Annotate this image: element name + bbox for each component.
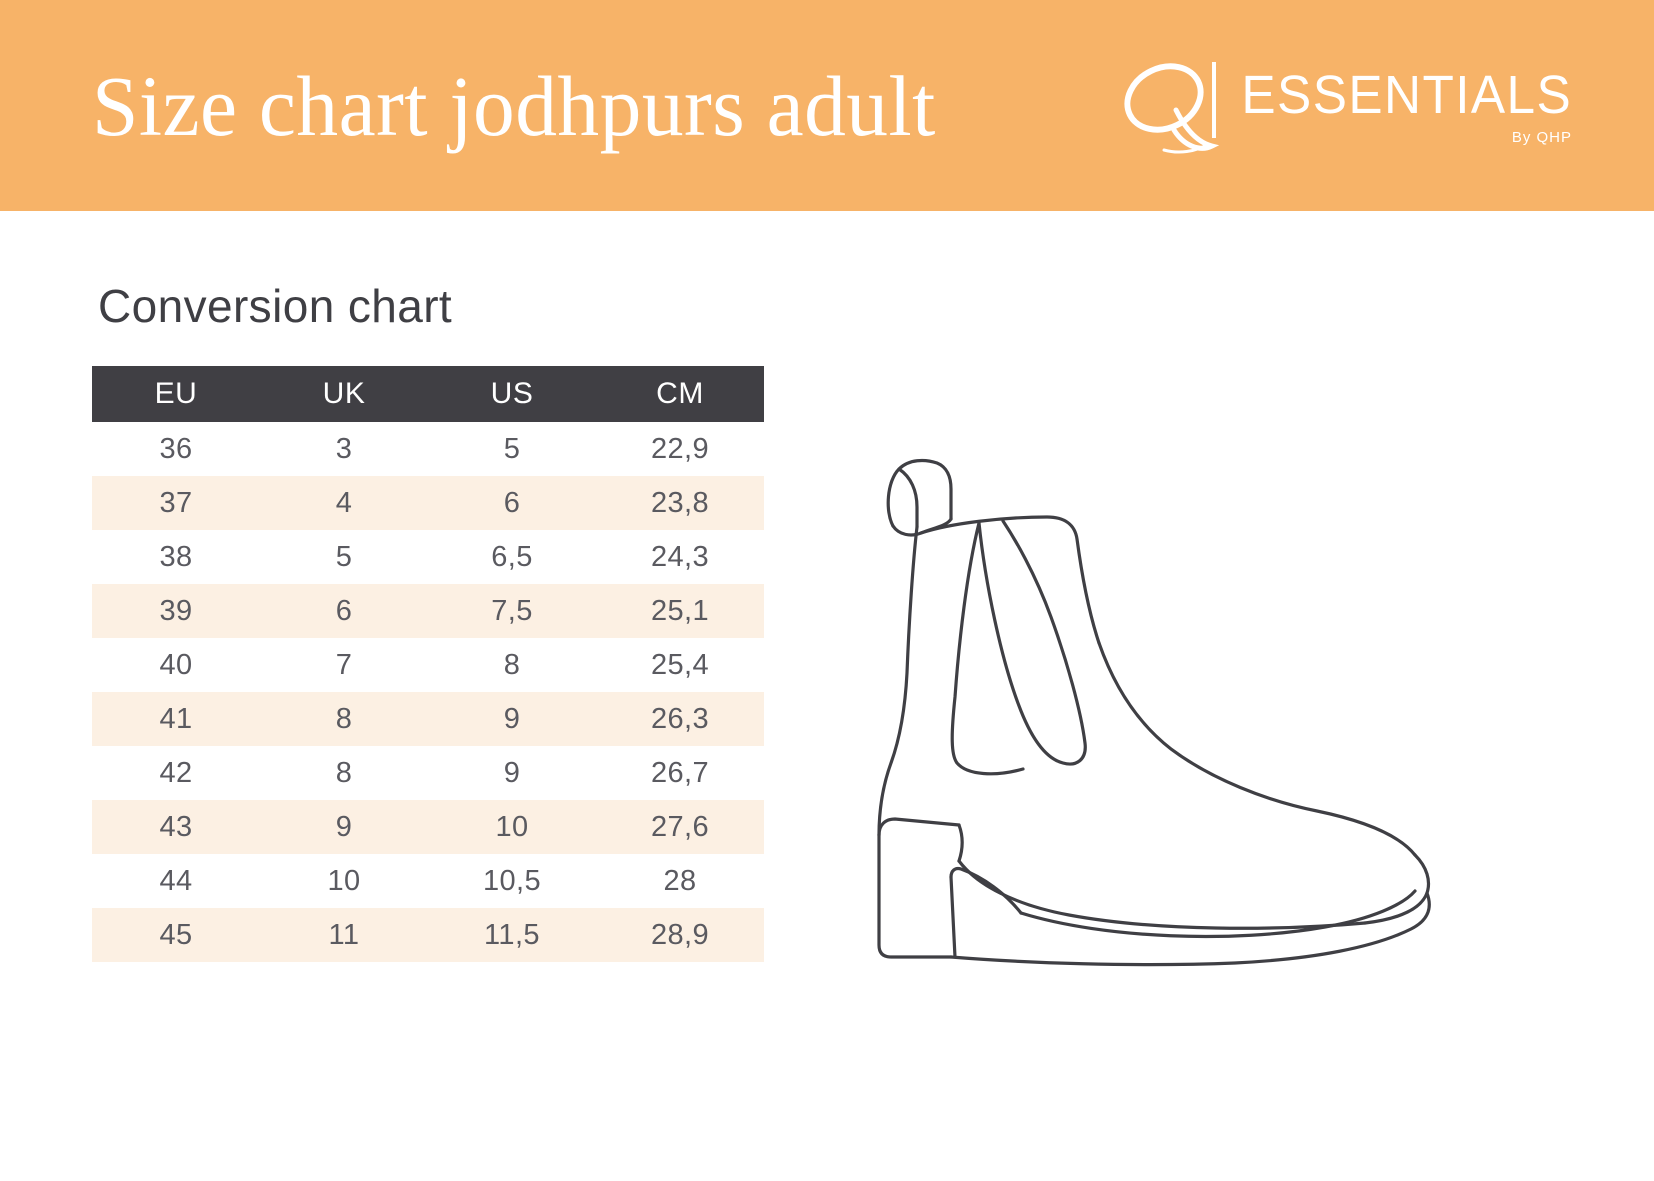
cell-uk: 9 — [260, 800, 428, 854]
section-heading: Conversion chart — [98, 283, 452, 329]
boot-illustration — [855, 411, 1465, 971]
cell-cm: 25,1 — [596, 584, 764, 638]
conversion-table-wrapper: EU UK US CM 36 3 5 22,9 37 4 6 23,8 — [92, 366, 764, 962]
cell-uk: 4 — [260, 476, 428, 530]
cell-cm: 22,9 — [596, 422, 764, 476]
cell-uk: 11 — [260, 908, 428, 962]
table-row: 41 8 9 26,3 — [92, 692, 764, 746]
cell-eu: 38 — [92, 530, 260, 584]
cell-cm: 27,6 — [596, 800, 764, 854]
cell-us: 6,5 — [428, 530, 596, 584]
brand-wordmark: ESSENTIALS By QHP — [1224, 54, 1572, 146]
table-head: EU UK US CM — [92, 366, 764, 422]
cell-eu: 45 — [92, 908, 260, 962]
cell-cm: 26,3 — [596, 692, 764, 746]
cell-uk: 8 — [260, 746, 428, 800]
table-body: 36 3 5 22,9 37 4 6 23,8 38 5 6,5 24,3 — [92, 422, 764, 962]
column-header-eu: EU — [92, 366, 260, 422]
cell-eu: 43 — [92, 800, 260, 854]
table-row: 38 5 6,5 24,3 — [92, 530, 764, 584]
cell-us: 10,5 — [428, 854, 596, 908]
cell-eu: 37 — [92, 476, 260, 530]
cell-eu: 41 — [92, 692, 260, 746]
table-row: 43 9 10 27,6 — [92, 800, 764, 854]
cell-eu: 36 — [92, 422, 260, 476]
column-header-us: US — [428, 366, 596, 422]
table-row: 36 3 5 22,9 — [92, 422, 764, 476]
cell-cm: 23,8 — [596, 476, 764, 530]
brand-logo: ESSENTIALS By QHP — [1116, 54, 1582, 158]
column-header-cm: CM — [596, 366, 764, 422]
cell-uk: 5 — [260, 530, 428, 584]
table-row: 44 10 10,5 28 — [92, 854, 764, 908]
cell-uk: 10 — [260, 854, 428, 908]
cell-us: 5 — [428, 422, 596, 476]
cell-us: 9 — [428, 746, 596, 800]
table-row: 42 8 9 26,7 — [92, 746, 764, 800]
cell-us: 6 — [428, 476, 596, 530]
cell-uk: 3 — [260, 422, 428, 476]
cell-eu: 44 — [92, 854, 260, 908]
cell-eu: 40 — [92, 638, 260, 692]
page-header-band: Size chart jodhpurs adult ESSENTIALS By … — [0, 0, 1654, 211]
cell-eu: 39 — [92, 584, 260, 638]
cell-us: 8 — [428, 638, 596, 692]
cell-uk: 7 — [260, 638, 428, 692]
table-header-row: EU UK US CM — [92, 366, 764, 422]
cell-us: 7,5 — [428, 584, 596, 638]
brand-subtitle: By QHP — [1512, 129, 1572, 146]
cell-eu: 42 — [92, 746, 260, 800]
table-row: 39 6 7,5 25,1 — [92, 584, 764, 638]
cell-uk: 6 — [260, 584, 428, 638]
table-row: 45 11 11,5 28,9 — [92, 908, 764, 962]
brand-q-icon — [1116, 54, 1226, 158]
cell-us: 11,5 — [428, 908, 596, 962]
table-row: 37 4 6 23,8 — [92, 476, 764, 530]
page-content: Conversion chart EU UK US CM 36 3 5 22,9 — [0, 211, 1654, 1181]
jodhpur-boot-icon — [855, 411, 1465, 971]
table-row: 40 7 8 25,4 — [92, 638, 764, 692]
cell-cm: 28 — [596, 854, 764, 908]
cell-cm: 24,3 — [596, 530, 764, 584]
cell-us: 10 — [428, 800, 596, 854]
cell-cm: 26,7 — [596, 746, 764, 800]
cell-cm: 25,4 — [596, 638, 764, 692]
cell-cm: 28,9 — [596, 908, 764, 962]
conversion-table: EU UK US CM 36 3 5 22,9 37 4 6 23,8 — [92, 366, 764, 962]
page-title: Size chart jodhpurs adult — [92, 63, 936, 149]
cell-us: 9 — [428, 692, 596, 746]
column-header-uk: UK — [260, 366, 428, 422]
brand-word: ESSENTIALS — [1241, 68, 1572, 122]
cell-uk: 8 — [260, 692, 428, 746]
